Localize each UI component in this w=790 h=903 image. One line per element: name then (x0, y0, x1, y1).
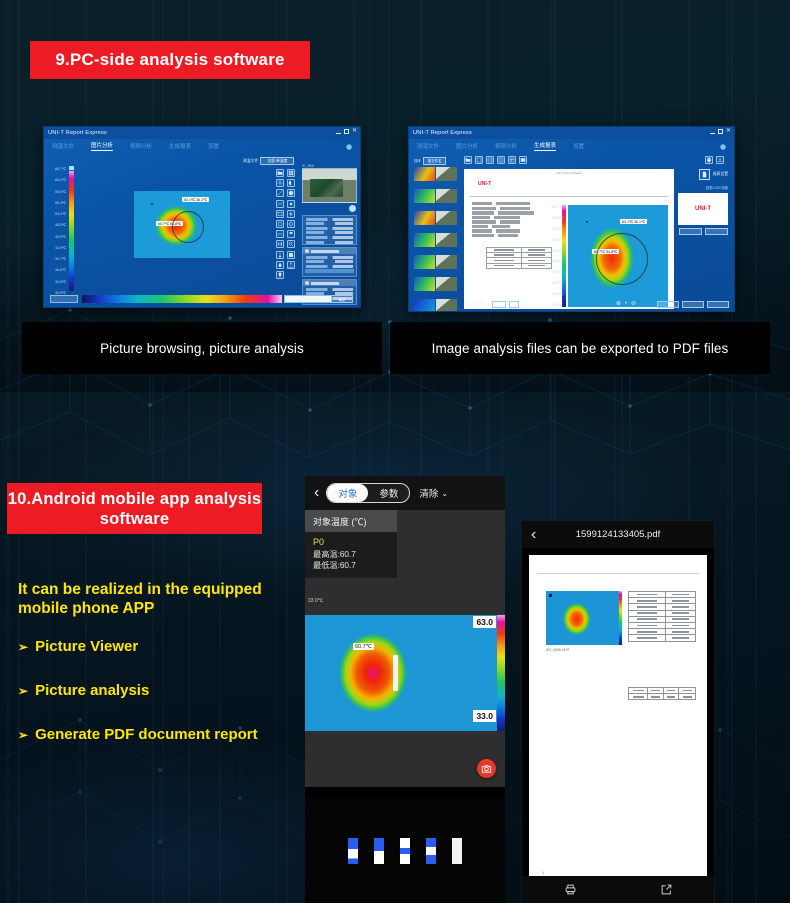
move-icon[interactable] (276, 179, 284, 187)
arc-tool-icon[interactable] (276, 230, 284, 238)
thumb-photo (436, 189, 457, 203)
back-icon[interactable]: ‹ (314, 485, 319, 501)
section-9-banner-label: 9.PC-side analysis software (55, 50, 284, 70)
maximize-icon[interactable] (344, 129, 349, 134)
phone-app-screen[interactable]: ‹ 对象 参数 清除 ⌄ 对象温度 (℃) P0 最高温:60.7 最低温:60… (305, 476, 505, 903)
thumbnail-filter-value[interactable]: 按文件名 (423, 157, 447, 165)
min-temp-row: 最低温:60.7 (313, 560, 389, 571)
share-icon[interactable] (660, 883, 673, 896)
template-a-icon[interactable] (475, 156, 483, 164)
pdf-thermal-image (546, 591, 619, 645)
object-panel-body: P0 最高温:60.7 最低温:60.7 (305, 532, 397, 578)
pc-window-generate-report[interactable]: UNI-T Report Express ✕ 测温文件 图片分析 视频分析 生成… (408, 126, 735, 312)
photo-info-icon[interactable] (349, 205, 356, 212)
folder-icon[interactable] (276, 169, 284, 177)
visible-light-photo[interactable] (302, 168, 357, 203)
scale-label: 53.4℃ (50, 212, 66, 216)
pdf-bottombar[interactable] (522, 876, 714, 903)
palette-icon[interactable] (287, 189, 295, 197)
next-page-icon[interactable]: › (487, 302, 489, 308)
pdf-export-icon[interactable] (716, 156, 724, 164)
object-temperature-panel: 对象温度 (℃) P0 最高温:60.7 最低温:60.7 (305, 510, 397, 578)
file-select-value[interactable]: 全部-单温度 (260, 157, 294, 165)
scale-label: 56.4℃ (50, 201, 66, 205)
close-icon[interactable]: ✕ (726, 129, 731, 134)
pdf-scale-ramp (619, 591, 622, 645)
scale-label: 33.6℃ (50, 280, 66, 284)
zoom-out-icon[interactable]: ⊖ (631, 300, 636, 307)
report-action-buttons[interactable] (657, 301, 729, 308)
palette-white-end (284, 295, 332, 303)
thumb-thermal (414, 255, 435, 269)
report-pager[interactable]: « ‹ 1/1 › (466, 301, 519, 308)
thermal-tag-top: 63.1℃ 36.1℃ (620, 219, 647, 224)
template-d-icon[interactable] (508, 156, 516, 164)
open-icon[interactable] (464, 156, 472, 164)
tab-video-analysis[interactable]: 视频分析 (130, 142, 152, 150)
caption-left-label: Picture browsing, picture analysis (100, 341, 304, 356)
ellipse-tool-icon[interactable] (276, 220, 284, 228)
insert-image-icon[interactable] (519, 156, 527, 164)
print-icon[interactable] (564, 883, 577, 896)
tool-column-secondary[interactable] (287, 169, 295, 269)
logo-buttons[interactable] (679, 228, 728, 235)
thermometer-icon[interactable] (276, 251, 284, 259)
close-icon[interactable]: ✕ (352, 129, 357, 134)
camera-icon[interactable] (477, 759, 496, 778)
maximize-icon[interactable] (718, 129, 723, 134)
report-measure-table (486, 247, 552, 269)
droplet-icon[interactable] (276, 261, 284, 269)
scale-label: 36.6℃ (552, 292, 561, 296)
pdf-info-table (628, 591, 696, 642)
file-select-label: 测温文件 (243, 159, 258, 164)
arrow-icon: ➢ (18, 685, 28, 697)
segmented-control[interactable]: 对象 参数 (326, 483, 410, 503)
scale-label: 66.7℃ (552, 205, 561, 209)
window-title-right: UNI-T Report Express (413, 130, 472, 136)
pc-window-image-analysis[interactable]: UNI-T Report Express ✕ 测温文件 图片分析 视频分析 生成… (43, 126, 361, 308)
section-9-banner: 9.PC-side analysis software (30, 41, 310, 79)
go-button[interactable] (509, 301, 519, 308)
measure-point[interactable] (151, 203, 153, 205)
zoom-icon[interactable] (287, 240, 295, 248)
window-title-left: UNI-T Report Express (48, 130, 107, 136)
logo-section-label: 报表LOGO设置 (706, 185, 728, 190)
scale-label: 42.9℃ (50, 246, 66, 250)
tab-generate-report[interactable]: 生成报表 (534, 141, 556, 151)
settings-doc-icon[interactable] (699, 169, 710, 180)
report-meta-rows (472, 202, 557, 239)
tab-settings[interactable]: 设置 (208, 142, 219, 150)
scale-label: 39.7℃ (552, 281, 561, 285)
phone-pdf-screen[interactable]: ‹ 1599124133405.pdf IR2_0806-0197 (522, 521, 714, 903)
histogram-icon[interactable] (276, 240, 284, 248)
temperature-info-panel (302, 247, 357, 277)
bullet-label: Picture analysis (35, 682, 149, 699)
measure-circle[interactable] (172, 211, 204, 243)
photo-caption: IR_0806 (302, 164, 314, 168)
gear-icon[interactable] (718, 142, 727, 151)
window-controls-left[interactable]: ✕ (336, 129, 357, 134)
window-titlebar-right: UNI-T Report Express ✕ (409, 127, 734, 139)
pdf-topbar: ‹ 1599124133405.pdf (522, 521, 714, 548)
tab-image-analysis[interactable]: 图片分析 (91, 141, 113, 151)
list-item[interactable] (414, 189, 457, 203)
scale-max-label: 63.0 (473, 616, 496, 628)
filmstrip-item[interactable] (374, 838, 384, 864)
window-titlebar-left: UNI-T Report Express ✕ (44, 127, 360, 139)
thumb-thermal (414, 299, 435, 312)
caption-right-label: Image analysis files can be exported to … (432, 341, 729, 356)
measure-point (549, 594, 552, 597)
arrow-icon: ➢ (18, 729, 28, 741)
scale-top-handle[interactable] (69, 166, 74, 170)
section-10-banner-label: 10.Android mobile app analysis software (7, 489, 262, 529)
pdf-image-caption: IR2_0806-0197 (546, 648, 569, 652)
chevron-down-icon: ⌄ (441, 489, 448, 498)
tab-generate-report[interactable]: 生成报表 (169, 142, 191, 150)
thumb-photo (436, 211, 457, 225)
scale-label: 30.5℃ (552, 303, 561, 307)
point-label: P0 (313, 537, 389, 547)
pdf-filename: 1599124133405.pdf (522, 529, 714, 540)
print-report-button[interactable] (707, 301, 729, 308)
thermal-tag-top: 63.1℃ 36.1℃ (182, 197, 209, 202)
file-select-group[interactable]: 测温文件 全部-单温度 (243, 157, 294, 165)
section-10-banner: 10.Android mobile app analysis software (7, 483, 262, 534)
crosshair-icon[interactable] (287, 220, 295, 228)
polyline-tool-icon[interactable] (276, 200, 284, 208)
choose-logo-button[interactable] (679, 228, 702, 235)
list-item[interactable] (414, 233, 457, 247)
report-header-text: UNI-T Thermal Report (556, 172, 582, 175)
pdf-page[interactable]: IR2_0806-0197 (529, 555, 707, 885)
palette-preview[interactable] (50, 295, 78, 303)
segment-parameters[interactable]: 参数 (368, 484, 409, 502)
temperature-color-ramp-horizontal[interactable] (82, 295, 282, 303)
scale-label: 59.6℃ (552, 216, 561, 220)
list-item[interactable] (414, 167, 457, 181)
list-item[interactable] (414, 299, 457, 312)
temperature-scale-ramp (497, 615, 505, 731)
prev-page-icon[interactable]: ‹ (472, 302, 474, 308)
thumb-photo (436, 299, 457, 312)
reset-logo-button[interactable] (705, 228, 728, 235)
tab-image-analysis[interactable]: 图片分析 (456, 142, 478, 150)
filmstrip-item[interactable] (400, 838, 410, 864)
layers-icon[interactable] (287, 230, 295, 238)
scale-min-label: 33.0 (473, 710, 496, 722)
zoom-in-icon[interactable]: ⊕ (616, 300, 621, 307)
window-tabs-left[interactable]: 测温文件 图片分析 视频分析 生成报表 设置 (44, 139, 360, 153)
tab-measure-files[interactable]: 测温文件 (52, 142, 74, 150)
scale-label: 45.5℃ (50, 235, 66, 239)
page-input[interactable] (492, 301, 506, 308)
filmstrip-item[interactable] (452, 838, 462, 864)
scale-label: 66.7℃ (50, 167, 66, 171)
temperature-panel-header (303, 248, 356, 254)
grid-icon[interactable] (287, 169, 295, 177)
bullet-picture-analysis: ➢ Picture analysis (18, 682, 149, 699)
report-scale-labels: 66.7℃ 59.6℃ 56.4℃ 53.4℃ 48.5℃ 45.5℃ 42.9… (552, 205, 561, 307)
sun-icon[interactable] (287, 200, 295, 208)
segment-object[interactable]: 对象 (327, 484, 368, 502)
pdf-measure-table (628, 687, 696, 700)
clear-label: 清除 (419, 486, 438, 500)
lightning-icon[interactable] (287, 210, 295, 218)
measure-point[interactable] (586, 221, 588, 223)
export-icon[interactable] (287, 261, 295, 269)
window-tabs-right[interactable]: 测温文件 图片分析 视频分析 生成报表 设置 (409, 139, 734, 153)
filmstrip-item[interactable] (348, 838, 358, 864)
app-topbar: ‹ 对象 参数 清除 ⌄ (305, 476, 505, 510)
clear-dropdown[interactable]: 清除 ⌄ (419, 486, 448, 500)
scale-label: 66.2℃ (50, 178, 66, 182)
thumb-thermal (414, 167, 435, 181)
scale-label: 53.4℃ (552, 238, 561, 242)
tool-column-primary[interactable] (276, 169, 284, 279)
tab-settings[interactable]: 设置 (573, 142, 584, 150)
bullet-icon (305, 281, 309, 285)
thermal-temp-tag: 60.7℃ (353, 643, 374, 650)
page-indicator: 1/1 (477, 302, 484, 308)
zoom-controls[interactable]: ⊕ • ⊖ (616, 300, 636, 307)
object-panel-title: 对象温度 (℃) (305, 510, 397, 532)
thumb-thermal (414, 189, 435, 203)
list-item[interactable] (414, 277, 457, 291)
zoom-reset-icon[interactable]: • (625, 301, 627, 307)
template-c-icon[interactable] (497, 156, 505, 164)
corner-temp-label: 33.0℃ (308, 598, 323, 604)
apply-palette-button[interactable]: 确定 (331, 295, 353, 303)
tab-video-analysis[interactable]: 视频分析 (495, 142, 517, 150)
report-thermal-image[interactable]: 63.1℃ 36.1℃ 60.7℃ 54.8℃ (568, 205, 668, 307)
app-main-area: 对象温度 (℃) P0 最高温:60.7 最低温:60.7 60.7℃ 63.0… (305, 510, 505, 787)
scale-label: 45.5℃ (552, 259, 561, 263)
arrow-icon: ➢ (18, 641, 28, 653)
export-report-button[interactable] (682, 301, 704, 308)
template-b-icon[interactable] (486, 156, 494, 164)
thermal-image-left[interactable]: 63.1℃ 36.1℃ 60.7℃ 54.8℃ (134, 191, 230, 258)
report-settings-label: 报表设置 (713, 172, 728, 177)
report-toolbar[interactable] (464, 156, 527, 164)
window-controls-right[interactable]: ✕ (710, 129, 731, 134)
save-icon[interactable] (287, 251, 295, 259)
print-icon[interactable] (705, 156, 713, 164)
thumb-thermal (414, 277, 435, 291)
bullet-generate-pdf: ➢ Generate PDF document report (18, 726, 258, 743)
file-info-panel (302, 215, 357, 245)
report-logo-text: UNI-T (695, 206, 711, 212)
temperature-scale-labels-left: 66.7℃ 66.2℃ 59.6℃ 56.4℃ 53.4℃ 48.5℃ 45.5… (50, 167, 66, 295)
thumbnail-filter-label: 排序 (414, 158, 421, 163)
thumbnail-filmstrip[interactable] (305, 798, 505, 903)
thumbnail-filter-group[interactable]: 排序 按文件名 (414, 157, 446, 165)
thumb-photo (436, 167, 457, 181)
window-body-left: 测温文件 全部-单温度 66.7℃ 66.2℃ 59.6℃ 56.4℃ 53.4… (44, 153, 360, 307)
probe-marker[interactable] (393, 655, 398, 691)
bullet-icon (305, 249, 309, 253)
pdf-rule (537, 573, 699, 574)
temperature-color-ramp-vertical (69, 171, 74, 291)
report-logo: UNI-T (478, 181, 491, 187)
minimize-icon[interactable] (710, 129, 715, 134)
report-settings-header: 报表设置 (699, 169, 728, 180)
rect-tool-icon[interactable] (276, 210, 284, 218)
thumb-thermal (414, 233, 435, 247)
bullet-label: Picture Viewer (35, 638, 138, 655)
first-page-icon[interactable]: « (466, 302, 469, 308)
window-body-right: 排序 按文件名 (409, 153, 734, 311)
scale-label: 59.6℃ (50, 190, 66, 194)
minimize-icon[interactable] (336, 129, 341, 134)
object-panel-header (303, 280, 356, 286)
bullet-picture-viewer: ➢ Picture Viewer (18, 638, 138, 655)
thumb-thermal (414, 211, 435, 225)
gear-icon[interactable] (344, 142, 353, 151)
android-lead-text: It can be realized in the equipped mobil… (18, 580, 303, 618)
tab-measure-files[interactable]: 测温文件 (417, 142, 439, 150)
scale-label: 48.5℃ (50, 223, 66, 227)
caption-picture-browsing: Picture browsing, picture analysis (22, 322, 382, 374)
list-item[interactable] (414, 211, 457, 225)
report-preview-page[interactable]: UNI-T Thermal Report UNI-T (464, 169, 674, 309)
scale-label: 39.7℃ (50, 257, 66, 261)
save-report-button[interactable] (657, 301, 679, 308)
list-item[interactable] (414, 255, 457, 269)
measure-circle[interactable] (596, 233, 648, 285)
scale-label: 36.6℃ (50, 268, 66, 272)
bullet-label: Generate PDF document report (35, 726, 258, 743)
scale-label: 42.9℃ (552, 270, 561, 274)
filmstrip-item[interactable] (426, 838, 436, 864)
pin-icon[interactable] (276, 271, 284, 279)
thumb-photo (436, 255, 457, 269)
pdf-page-number: 1 (542, 870, 544, 875)
scale-label: 48.5℃ (552, 249, 561, 253)
max-temp-row: 最高温:60.7 (313, 549, 389, 560)
caption-pdf-export: Image analysis files can be exported to … (390, 322, 770, 374)
report-toolbar-right[interactable] (705, 156, 724, 164)
page-root: 9.PC-side analysis software UNI-T Report… (0, 0, 790, 903)
contrast-icon[interactable] (287, 179, 295, 187)
thumb-photo (436, 277, 457, 291)
report-logo-preview[interactable]: UNI-T (678, 193, 728, 225)
thumb-photo (436, 233, 457, 247)
line-tool-icon[interactable] (276, 189, 284, 197)
scale-label: 56.4℃ (552, 227, 561, 231)
